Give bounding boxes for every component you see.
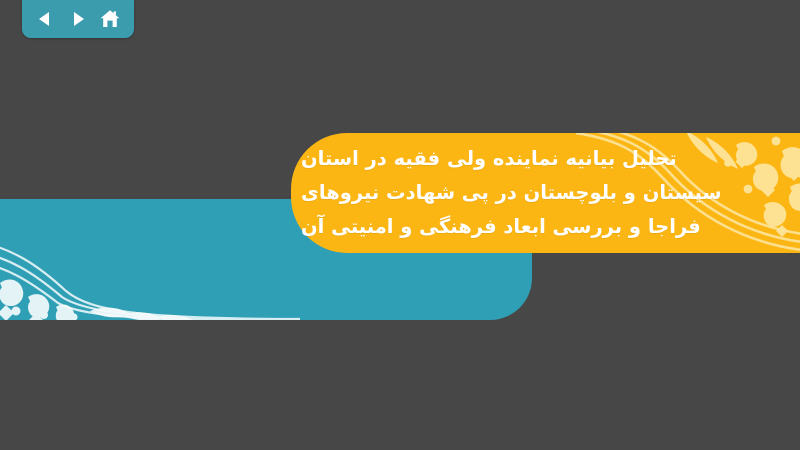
title-line-1: تحلیل بیانیه نماینده ولی فقیه در استان (301, 142, 677, 176)
home-button[interactable] (97, 6, 123, 32)
back-arrow-icon (35, 9, 55, 29)
home-icon (99, 8, 121, 30)
slide-title: تحلیل بیانیه نماینده ولی فقیه در استان س… (291, 133, 800, 253)
arabesque-corner-ornament-teal (0, 205, 300, 320)
title-line-3: فراجا و بررسی ابعاد فرهنگی و امنیتی آن (301, 210, 701, 244)
navigation-toolbar (22, 0, 134, 38)
forward-arrow-icon (68, 9, 88, 29)
title-line-2: سیستان و بلوچستان در پی شهادت نیروهای (301, 176, 722, 210)
presentation-slide: تحلیل بیانیه نماینده ولی فقیه در استان س… (0, 0, 800, 450)
back-button[interactable] (32, 6, 58, 32)
forward-button[interactable] (65, 6, 91, 32)
